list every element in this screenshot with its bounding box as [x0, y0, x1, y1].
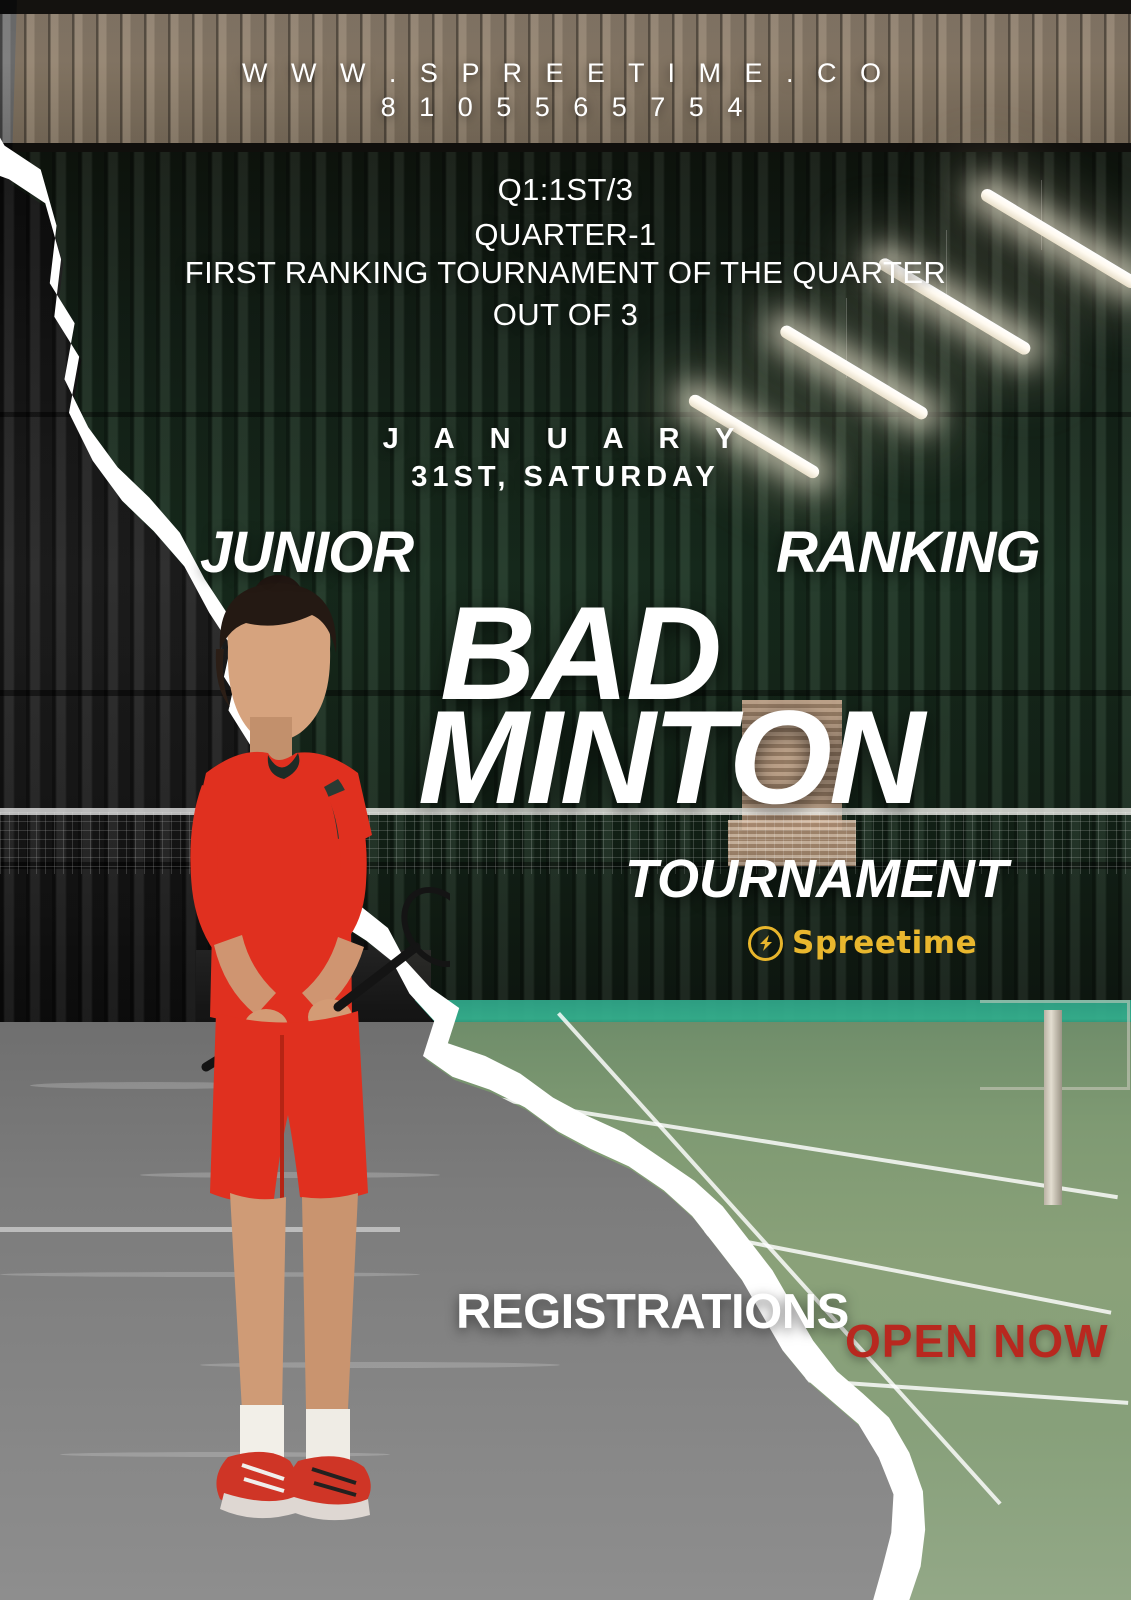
fluorescent-tube-icon: [778, 323, 930, 422]
red-shorts: [210, 1011, 368, 1202]
hair-side: [216, 649, 230, 707]
player-figure: [120, 565, 450, 1600]
phone-number: 8 1 0 5 5 6 5 7 5 4: [0, 92, 1131, 123]
spreetime-logo[interactable]: Spreetime: [748, 925, 977, 961]
net-post: [1044, 1010, 1062, 1205]
lightning-bolt-icon: [748, 926, 783, 961]
bolt-glyph: [756, 933, 776, 953]
subtitle-line-3: FIRST RANKING TOURNAMENT OF THE QUARTER: [0, 255, 1131, 291]
right-leg: [302, 1193, 358, 1409]
headline-tournament: TOURNAMENT: [625, 848, 1008, 910]
headline-junior: JUNIOR: [200, 519, 413, 586]
subtitle-line-2: QUARTER-1: [0, 217, 1131, 253]
event-month: J A N U A R Y: [0, 423, 1131, 456]
website-url: W W W . S P R E E T I M E . C O: [0, 58, 1131, 89]
headline-ranking: RANKING: [776, 519, 1040, 586]
left-leg: [230, 1193, 286, 1411]
tournament-poster: W W W . S P R E E T I M E . C O 8 1 0 5 …: [0, 0, 1131, 1600]
brand-name: Spreetime: [792, 925, 977, 961]
subtitle-line-4: OUT OF 3: [0, 297, 1131, 333]
open-now-badge: OPEN NOW: [845, 1314, 1109, 1368]
headline-minton: MINTON: [418, 692, 922, 825]
registrations-label: REGISTRATIONS: [456, 1284, 849, 1340]
player-illustration: [120, 565, 450, 1600]
subtitle-line-1: Q1:1ST/3: [0, 172, 1131, 208]
event-day: 31ST, SATURDAY: [0, 461, 1131, 494]
